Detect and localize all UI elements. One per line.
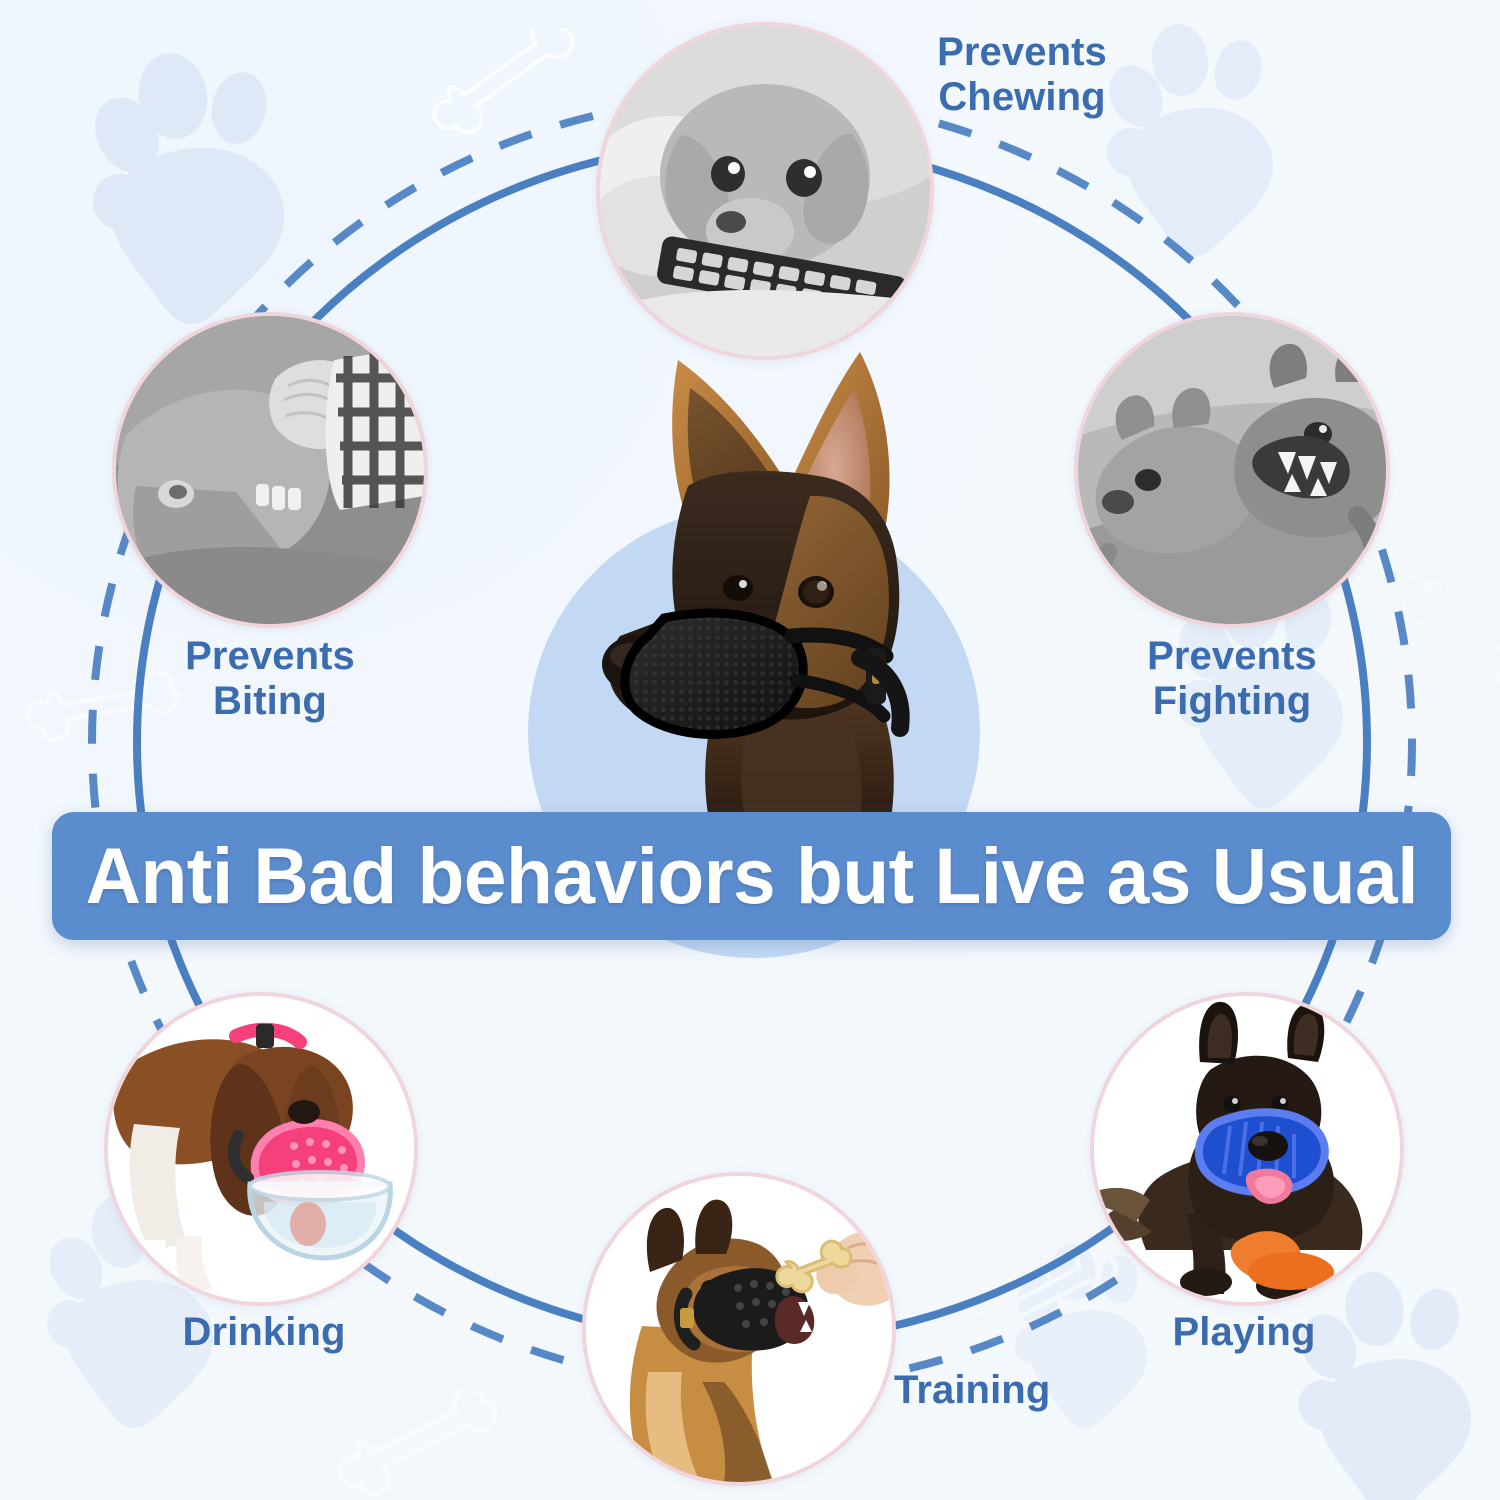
- headline-banner: Anti Bad behaviors but Live as Usual: [52, 812, 1451, 940]
- feature-label-prevents-fighting: Prevents Fighting: [1102, 634, 1362, 724]
- feature-label-training: Training: [894, 1368, 1154, 1413]
- feature-photo-frame: [1090, 992, 1404, 1306]
- feature-prevents-biting[interactable]: Prevents Biting: [112, 312, 428, 628]
- feature-label-prevents-chewing: Prevents Chewing: [892, 30, 1152, 120]
- feature-drinking[interactable]: Drinking: [104, 992, 418, 1306]
- feature-training[interactable]: Training: [582, 1172, 896, 1486]
- photo-malinois-blue-muzzle-playing: [1094, 996, 1400, 1302]
- feature-photo-frame: [596, 22, 934, 360]
- product-infographic: Prevents Chewing: [0, 0, 1500, 1500]
- feature-photo-frame: [582, 1172, 896, 1486]
- photo-two-dogs-fighting: [1078, 316, 1386, 624]
- feature-label-prevents-biting: Prevents Biting: [140, 634, 400, 724]
- feature-label-drinking: Drinking: [124, 1310, 404, 1355]
- photo-training-treat-reward: [586, 1176, 892, 1482]
- photo-puppy-chewing-tv-remote: [600, 26, 930, 356]
- photo-dog-biting-hand: [116, 316, 424, 624]
- photo-beagle-drinking-with-pink-muzzle: [108, 996, 414, 1302]
- feature-label-playing: Playing: [1104, 1310, 1384, 1355]
- headline-text: Anti Bad behaviors but Live as Usual: [85, 830, 1417, 922]
- feature-photo-frame: [112, 312, 428, 628]
- feature-photo-frame: [104, 992, 418, 1306]
- feature-prevents-chewing[interactable]: Prevents Chewing: [596, 22, 934, 360]
- feature-photo-frame: [1074, 312, 1390, 628]
- center-hero-muzzled-dog: [560, 336, 960, 826]
- feature-prevents-fighting[interactable]: Prevents Fighting: [1074, 312, 1390, 628]
- feature-playing[interactable]: Playing: [1090, 992, 1404, 1306]
